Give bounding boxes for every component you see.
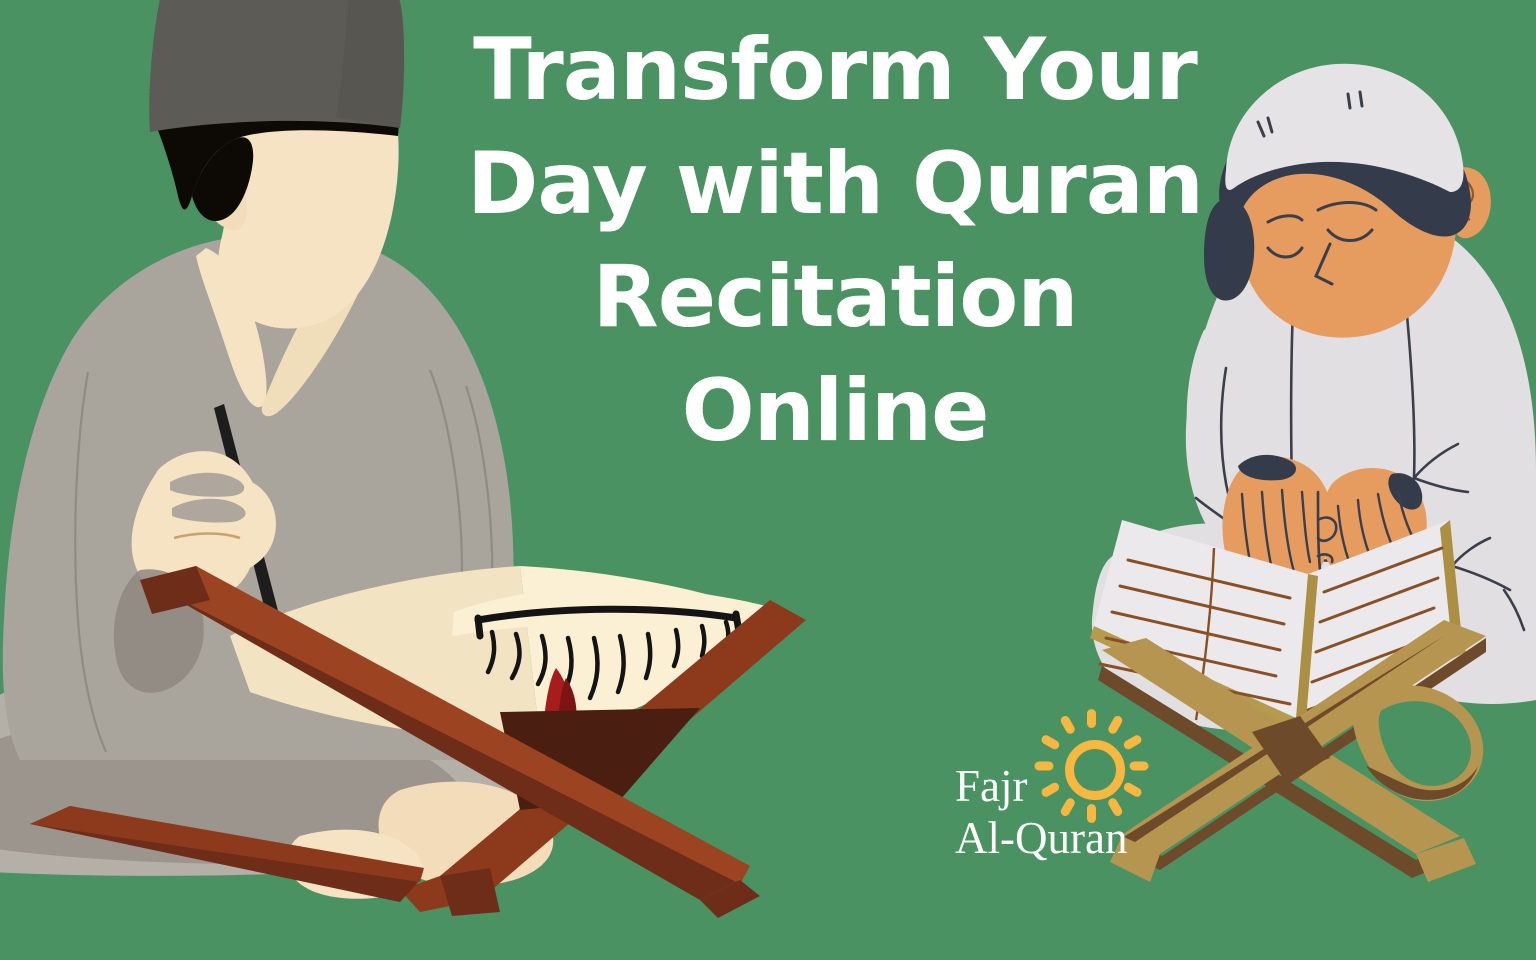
headline-line-2: Day with Quran xyxy=(440,128,1230,242)
brand-logo[interactable]: Fajr Al-Quran xyxy=(955,760,1150,861)
sun-ray xyxy=(1087,709,1096,728)
sun-ray xyxy=(1129,762,1148,771)
brand-logo-word-fajr: Fajr xyxy=(955,764,1028,809)
headline-line-3: Recitation xyxy=(440,241,1230,355)
page-title: Transform Your Day with Quran Recitation… xyxy=(440,14,1230,468)
headline-line-4: Online xyxy=(440,355,1230,469)
sun-ray xyxy=(1106,797,1123,818)
sun-core xyxy=(1065,740,1125,800)
brand-logo-top-row: Fajr xyxy=(955,760,1150,812)
quran-recitation-banner: Transform Your Day with Quran Recitation… xyxy=(0,0,1536,960)
sun-ray xyxy=(1087,804,1096,823)
sun-ray xyxy=(1106,714,1123,735)
sun-ray xyxy=(1039,734,1060,751)
sun-ray xyxy=(1122,781,1143,798)
sun-ray xyxy=(1039,781,1060,798)
headline-line-1: Transform Your xyxy=(440,14,1230,128)
sun-ray xyxy=(1122,734,1143,751)
sun-ray xyxy=(1059,797,1076,818)
sun-ray xyxy=(1034,762,1053,771)
sun-ray xyxy=(1059,714,1076,735)
sun-icon xyxy=(1032,707,1150,825)
